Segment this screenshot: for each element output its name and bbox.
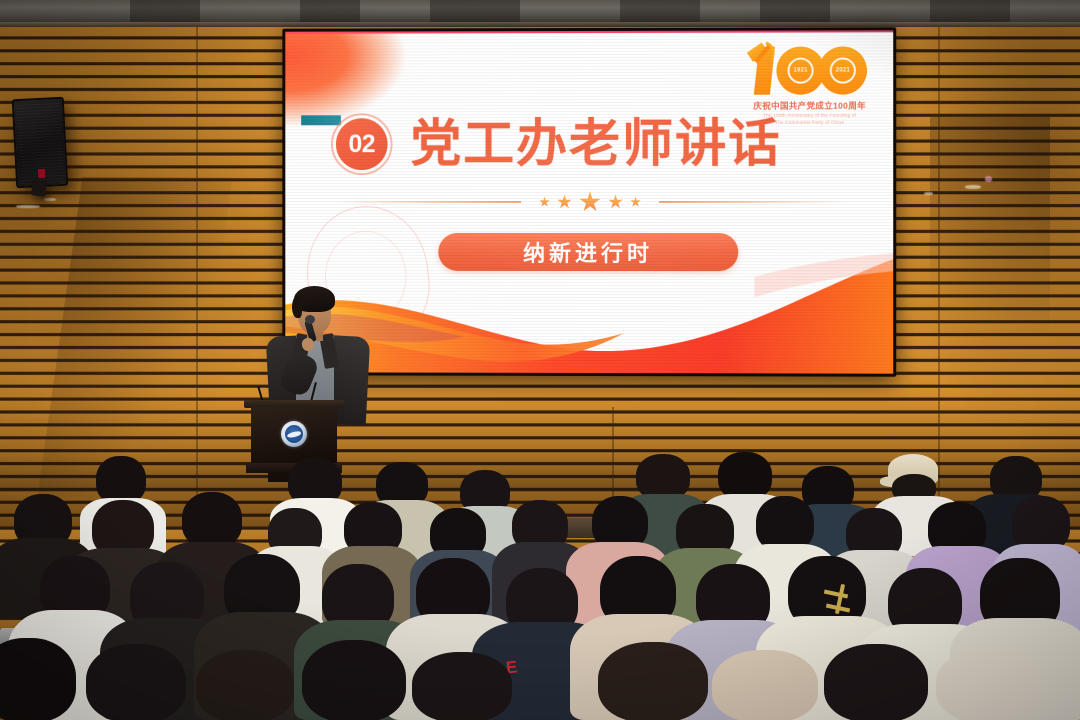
star-icon [630, 196, 641, 207]
audience-head [86, 644, 186, 720]
audience-head [412, 652, 512, 720]
auditorium-photo: 1921 2021 庆祝中国共产党成立100周年 The 100th Anniv… [0, 0, 1080, 720]
audience-head [712, 650, 818, 720]
audience-head [598, 642, 708, 720]
audience-head [196, 650, 294, 720]
anniversary-year-right: 2021 [830, 57, 856, 83]
hammer-and-sickle-icon [750, 39, 780, 69]
star-divider [333, 191, 849, 213]
audience-head [302, 640, 406, 720]
wall-scuff [985, 176, 992, 182]
star-icon [579, 191, 601, 213]
wall-scuff [16, 205, 40, 208]
audience-head [0, 638, 76, 720]
wave-graphic [285, 253, 893, 374]
anniversary-chinese-caption: 庆祝中国共产党成立100周年 [746, 100, 873, 112]
wall-speaker [12, 97, 69, 189]
wall-scuff [924, 192, 933, 195]
speaker-brand-logo [38, 169, 45, 178]
star-icon [557, 195, 572, 210]
led-screen: 1921 2021 庆祝中国共产党成立100周年 The 100th Anniv… [285, 30, 893, 373]
star-icon [539, 197, 550, 208]
led-screen-frame: 1921 2021 庆祝中国共产党成立100周年 The 100th Anniv… [282, 27, 896, 376]
wall-scuff [965, 185, 981, 189]
audience-head [718, 452, 772, 500]
wall-scuff [44, 198, 56, 201]
podium-emblem [281, 421, 307, 447]
star-icon [608, 194, 623, 209]
audience-head [182, 492, 242, 548]
speaker-mount-bracket [31, 179, 47, 197]
star-group [527, 191, 653, 213]
audience: E [0, 452, 1080, 720]
audience-head [936, 648, 1046, 720]
section-number-badge: 02 [331, 113, 393, 175]
slide-headline-row: 02 党工办老师讲话 [331, 113, 782, 175]
anniversary-year-left: 1921 [788, 58, 814, 84]
section-number-text: 02 [348, 130, 375, 159]
slide-title: 党工办老师讲话 [410, 118, 781, 169]
audience-head [96, 456, 146, 504]
audience-head [824, 644, 928, 720]
